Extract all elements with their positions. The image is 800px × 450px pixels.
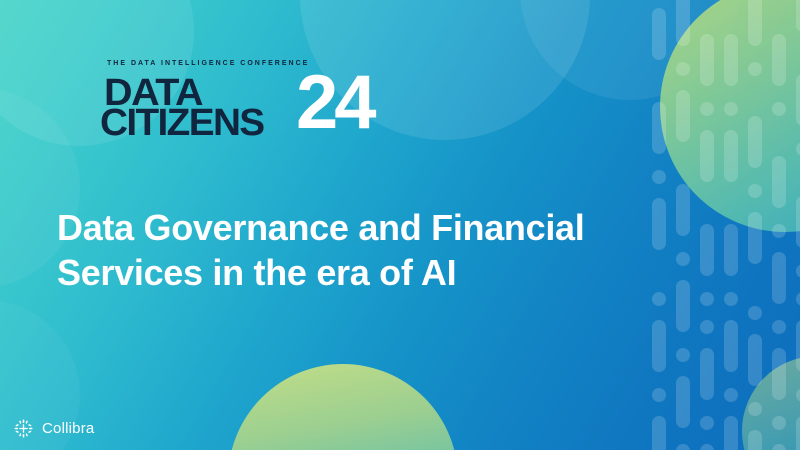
pattern-dot xyxy=(676,348,690,362)
pattern-pill xyxy=(724,34,738,86)
pattern-dot xyxy=(676,62,690,76)
pattern-pill xyxy=(724,320,738,372)
pattern-pill xyxy=(676,90,690,142)
pattern-pill xyxy=(724,224,738,276)
slide-title: Data Governance and Financial Services i… xyxy=(57,205,677,296)
pattern-pill xyxy=(652,102,666,154)
pattern-dot xyxy=(700,320,714,334)
pattern-pill xyxy=(748,334,762,386)
pattern-pill xyxy=(652,8,666,60)
pattern-pill xyxy=(796,74,800,126)
pattern-pill xyxy=(700,224,714,276)
pattern-pill xyxy=(772,34,786,86)
pattern-pill xyxy=(724,416,738,450)
pattern-pill xyxy=(772,156,786,208)
pattern-pill xyxy=(676,280,690,332)
pattern-pill xyxy=(700,348,714,400)
pattern-pill xyxy=(652,416,666,450)
pattern-dot xyxy=(772,224,786,238)
pattern-dot xyxy=(724,102,738,116)
pattern-pill xyxy=(676,0,690,46)
pattern-pill xyxy=(796,416,800,450)
logo-year: 24 xyxy=(296,65,373,141)
collibra-mark-icon xyxy=(14,419,33,438)
pattern-dot xyxy=(748,402,762,416)
decorative-circle-green-top-right xyxy=(660,0,800,232)
pattern-pill xyxy=(700,34,714,86)
pattern-pill xyxy=(748,430,762,450)
pattern-column xyxy=(744,0,766,450)
pattern-pill xyxy=(748,0,762,46)
pattern-dot xyxy=(772,320,786,334)
brand-lockup: Collibra xyxy=(14,419,94,438)
pattern-dot xyxy=(796,292,800,306)
decorative-circle-green-bottom-center xyxy=(228,364,458,450)
pattern-dot xyxy=(796,264,800,278)
conference-tagline: THE DATA INTELLIGENCE CONFERENCE xyxy=(107,60,309,67)
decorative-circle-green-bottom-right xyxy=(742,356,800,450)
pattern-dot xyxy=(700,416,714,430)
pattern-column xyxy=(720,0,742,450)
pattern-column xyxy=(696,0,718,450)
pattern-pill xyxy=(700,444,714,450)
pattern-dot xyxy=(748,62,762,76)
pattern-dot xyxy=(676,444,690,450)
slide-title-line-2: Services in the era of AI xyxy=(57,250,677,295)
pattern-pill xyxy=(676,184,690,236)
pattern-pill xyxy=(700,130,714,182)
title-slide: THE DATA INTELLIGENCE CONFERENCE DATA CI… xyxy=(0,0,800,450)
logo-word-citizens: CITIZENS xyxy=(100,104,264,142)
conference-logo: THE DATA INTELLIGENCE CONFERENCE DATA CI… xyxy=(100,60,325,165)
pattern-pill xyxy=(772,252,786,304)
pattern-dot xyxy=(796,142,800,156)
pattern-dot xyxy=(748,184,762,198)
pattern-pill xyxy=(652,320,666,372)
slide-title-line-1: Data Governance and Financial xyxy=(57,205,677,250)
pattern-column xyxy=(768,0,790,450)
pattern-pill xyxy=(772,444,786,450)
pattern-dot xyxy=(772,416,786,430)
pattern-column xyxy=(792,0,800,450)
pattern-pill xyxy=(796,196,800,248)
pattern-dot xyxy=(796,388,800,402)
pattern-dot xyxy=(724,388,738,402)
pattern-pill xyxy=(724,130,738,182)
pattern-dot xyxy=(676,252,690,266)
pattern-dot xyxy=(700,102,714,116)
pattern-pill xyxy=(748,212,762,264)
pattern-pill xyxy=(796,320,800,372)
pattern-dot xyxy=(772,102,786,116)
pattern-dot xyxy=(724,292,738,306)
pattern-dot xyxy=(748,306,762,320)
pattern-dot xyxy=(652,388,666,402)
pattern-dot xyxy=(700,292,714,306)
pattern-pill xyxy=(748,116,762,168)
pattern-dot xyxy=(652,170,666,184)
pattern-pill xyxy=(796,0,800,32)
brand-name: Collibra xyxy=(42,420,94,437)
pattern-pill xyxy=(676,376,690,428)
pattern-pill xyxy=(772,348,786,400)
decorative-circle-top-center-2 xyxy=(520,0,740,100)
